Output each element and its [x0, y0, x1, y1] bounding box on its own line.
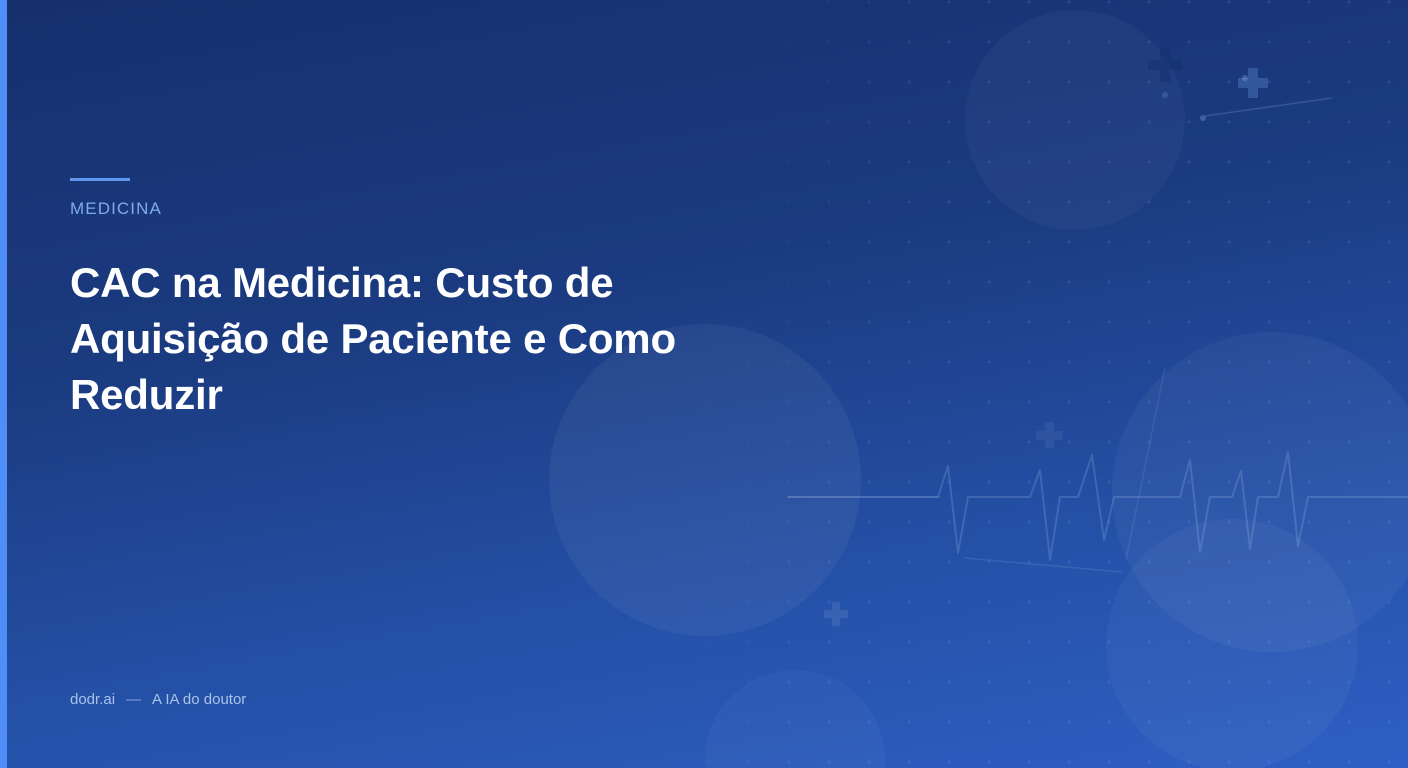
diagonal-line-middle — [964, 558, 1122, 572]
cross-upper-dark — [1148, 48, 1182, 82]
accent-dot — [1200, 115, 1206, 121]
circle-lower-right-small — [1106, 519, 1358, 768]
category-label: MEDICINA — [70, 199, 162, 219]
diagonal-line-right — [1126, 368, 1165, 560]
footer-branding: dodr.ai — A IA do doutor — [70, 691, 246, 708]
circle-top-right — [965, 10, 1185, 230]
card-content: MEDICINA CAC na Medicina: Custo de Aquis… — [70, 0, 770, 768]
accent-dot — [1162, 92, 1168, 98]
accent-dot — [1242, 75, 1248, 81]
cross-lower-left — [824, 602, 848, 626]
footer-separator: — — [126, 691, 141, 708]
left-accent-rail — [0, 0, 7, 768]
cross-upper-light — [1238, 68, 1268, 98]
cross-mid-left — [1036, 422, 1063, 448]
page-title: CAC na Medicina: Custo de Aquisição de P… — [70, 255, 730, 423]
diagonal-line-top — [1205, 98, 1332, 116]
site-name: dodr.ai — [70, 691, 115, 708]
eyebrow-accent-rule — [70, 178, 130, 181]
site-tagline: A IA do doutor — [152, 691, 246, 708]
social-share-card: MEDICINA CAC na Medicina: Custo de Aquis… — [0, 0, 1408, 768]
circle-lower-right-large — [1112, 332, 1408, 652]
ecg-heartbeat-line — [788, 452, 1408, 560]
